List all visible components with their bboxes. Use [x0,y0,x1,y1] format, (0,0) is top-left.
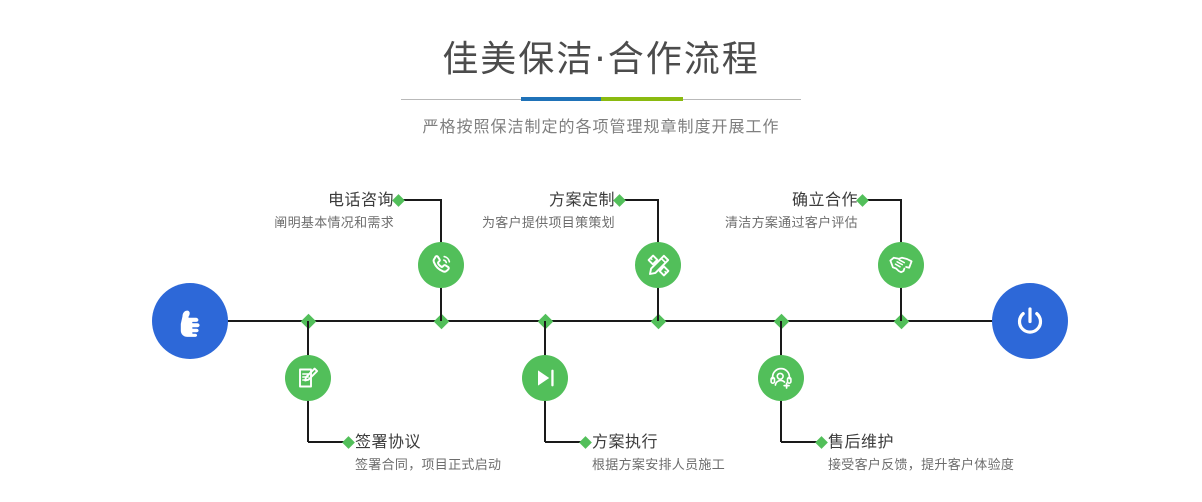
step-leader-diamond [856,194,869,207]
timeline: 电话咨询 阐明基本情况和需求 签署协议 签署合同，项目正式启动 [0,0,1202,502]
step-desc: 阐明基本情况和需求 [190,210,394,233]
step-desc: 为客户提供项目策策划 [410,210,615,233]
step-title: 确立合作 [650,190,858,210]
step-leader-diamond [342,436,355,449]
timeline-start-marker [152,283,228,359]
step-label: 电话咨询 阐明基本情况和需求 [190,190,394,233]
headset-support-icon [758,355,804,401]
step-title: 售后维护 [828,432,1148,452]
power-icon [1010,301,1050,341]
flow-infographic: 佳美保洁·合作流程 严格按照保洁制定的各项管理规章制度开展工作 [0,0,1202,502]
step-label: 售后维护 接受客户反馈，提升客户体验度 [828,432,1148,475]
play-execute-icon [522,355,568,401]
phone-call-icon [418,242,464,288]
step-leader-diamond [392,194,405,207]
pointing-hand-icon [170,301,210,341]
step-title: 电话咨询 [190,190,394,210]
step-label: 方案定制 为客户提供项目策策划 [410,190,615,233]
pencil-ruler-icon [635,242,681,288]
timeline-end-marker [992,283,1068,359]
step-label: 确立合作 清洁方案通过客户评估 [650,190,858,233]
document-edit-icon [285,355,331,401]
step-leader-diamond [613,194,626,207]
step-desc: 清洁方案通过客户评估 [650,210,858,233]
handshake-icon [878,242,924,288]
step-desc: 接受客户反馈，提升客户体验度 [828,452,1148,475]
step-title: 方案定制 [410,190,615,210]
